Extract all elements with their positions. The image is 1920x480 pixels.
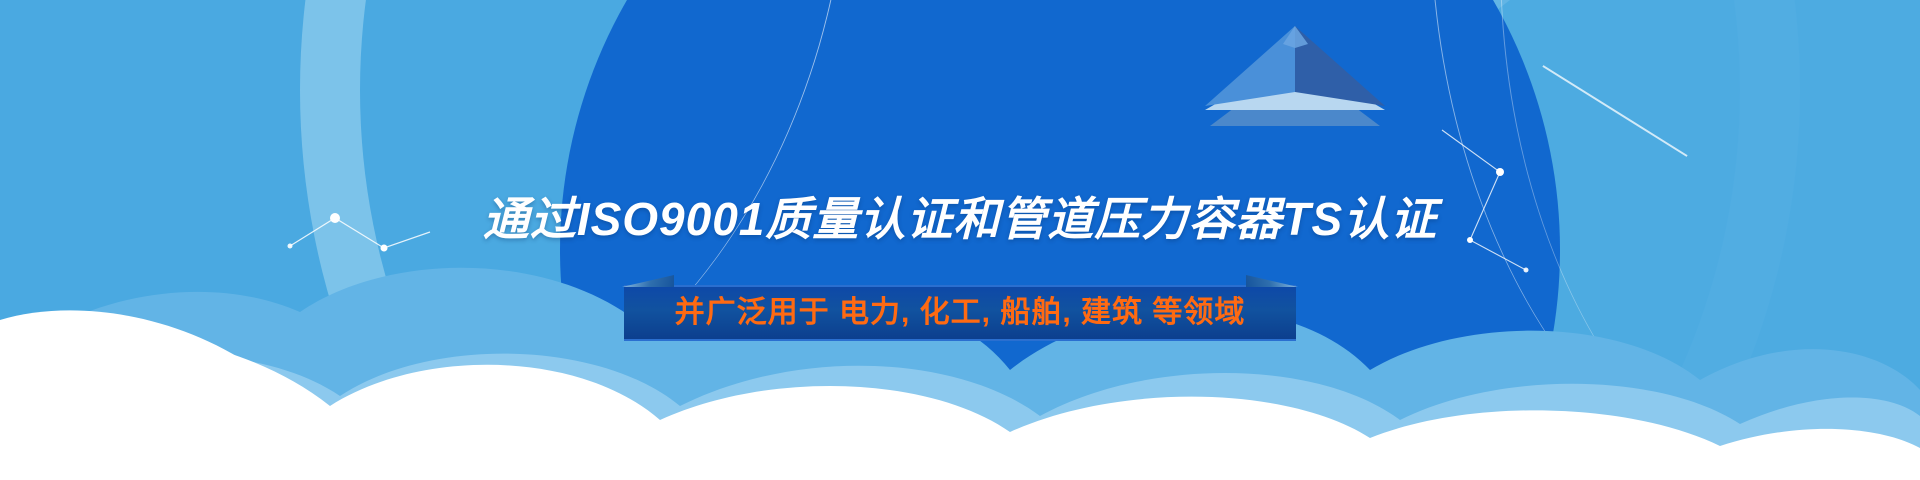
ribbon-body: 并广泛用于 电力, 化工, 船舶, 建筑 等领域 [624, 285, 1296, 341]
subtitle-ribbon: 并广泛用于 电力, 化工, 船舶, 建筑 等领域 [624, 285, 1296, 341]
hero-banner: 通过ISO9001质量认证和管道压力容器TS认证 并广泛用于 电力, 化工, 船… [0, 0, 1920, 480]
page-title: 通过ISO9001质量认证和管道压力容器TS认证 [0, 192, 1920, 246]
ribbon-label: 并广泛用于 电力, 化工, 船舶, 建筑 等领域 [675, 298, 1246, 328]
cloud-layers-icon [0, 220, 1920, 480]
pyramid-logo-icon [1195, 18, 1395, 138]
